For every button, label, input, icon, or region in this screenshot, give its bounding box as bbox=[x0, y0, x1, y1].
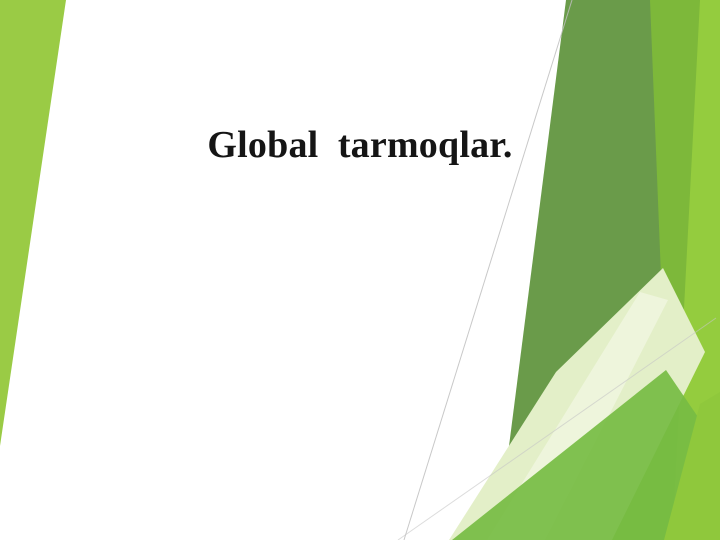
pale-mint-light-sliver bbox=[487, 292, 668, 540]
left-green-wedge bbox=[0, 0, 66, 446]
page-title: Global tarmoqlar. bbox=[207, 122, 512, 168]
right-bright-green-band bbox=[576, 0, 720, 540]
right-mid-green-band bbox=[520, 0, 700, 540]
accent-green-facet bbox=[452, 370, 700, 540]
title-placeholder[interactable]: Global tarmoqlar. bbox=[0, 122, 720, 168]
facet-theme-decoration bbox=[0, 0, 720, 540]
slide-canvas: Global tarmoqlar. bbox=[0, 0, 720, 540]
hairline-diagonal bbox=[404, 0, 572, 540]
lower-bright-facet bbox=[664, 392, 720, 540]
dark-olive-band bbox=[497, 0, 666, 540]
hairline-diagonal-secondary bbox=[398, 318, 716, 540]
pale-mint-facet bbox=[449, 268, 705, 540]
